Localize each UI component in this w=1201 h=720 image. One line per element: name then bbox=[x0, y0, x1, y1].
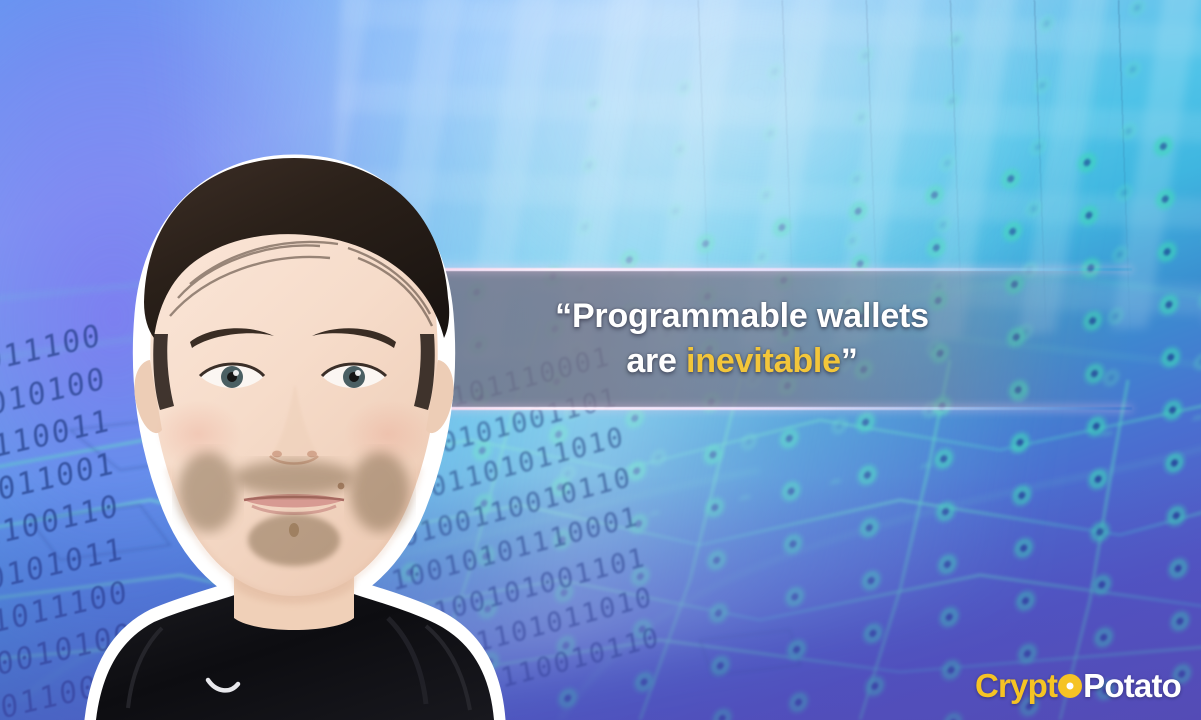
logo-text-crypto: Crypt bbox=[975, 669, 1057, 702]
beauty-mark bbox=[338, 483, 345, 490]
quote-line-2-suffix: ” bbox=[841, 342, 858, 380]
logo-text-potato: Potato bbox=[1083, 669, 1181, 702]
cryptopotato-logo[interactable]: CryptPotato bbox=[975, 669, 1181, 702]
quote-line-2-prefix: are bbox=[626, 342, 686, 380]
potato-coin-dot-icon bbox=[1058, 674, 1082, 698]
portrait-person bbox=[58, 148, 528, 720]
article-banner-image: 1001011100 0110010100 0110110011 1010011… bbox=[0, 0, 1201, 720]
quote-line-2: are inevitable” bbox=[626, 339, 857, 384]
quote-line-1: “Programmable wallets bbox=[555, 294, 929, 339]
quote-highlight-word: inevitable bbox=[686, 342, 841, 380]
